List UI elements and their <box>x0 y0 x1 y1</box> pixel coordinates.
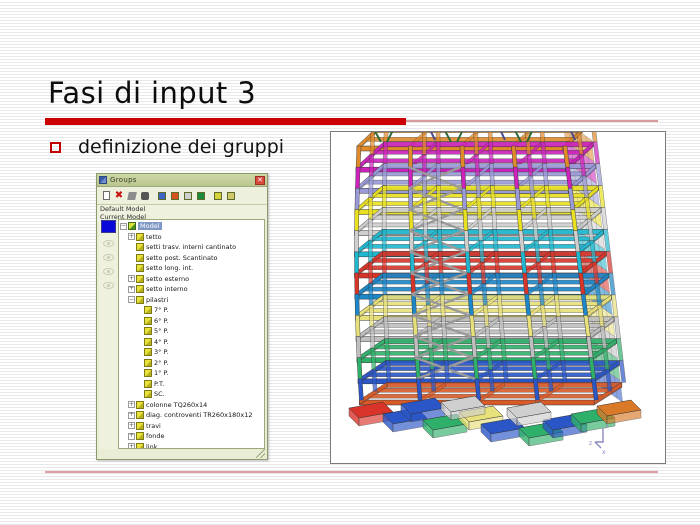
tree-item[interactable]: P.T. <box>120 379 264 390</box>
tree-item-label: link <box>146 443 158 449</box>
blue-cube-icon <box>158 192 166 200</box>
tree-item-label: 2° P. <box>154 359 168 367</box>
group-icon <box>136 254 144 262</box>
tree-spacer <box>136 359 143 366</box>
footer-rule <box>45 471 658 473</box>
rename-group-button[interactable] <box>126 189 138 202</box>
expand-icon[interactable]: + <box>128 286 135 293</box>
tree-item-label: colonne TQ260x14 <box>146 401 207 409</box>
tree-spacer <box>136 391 143 398</box>
red-cube-icon <box>171 192 179 200</box>
pale-cube-icon <box>227 192 235 200</box>
expand-icon[interactable]: + <box>128 233 135 240</box>
expand-icon[interactable]: + <box>128 412 135 419</box>
group-properties-button[interactable] <box>139 189 151 202</box>
dialog-title: Groups <box>110 176 255 184</box>
tree-item-label: Model <box>138 222 162 230</box>
tree-spacer <box>136 328 143 335</box>
tree-item[interactable]: +diag. controventi TR260x180x12 <box>120 410 264 421</box>
visibility-eye-icon[interactable] <box>103 240 114 247</box>
group-icon <box>136 422 144 430</box>
tree-item[interactable]: SC. <box>120 389 264 400</box>
structural-model-graphic: y x z <box>331 132 666 464</box>
tree-item[interactable]: setto post. Scantinato <box>120 253 264 264</box>
accent-rule-thin <box>406 120 658 122</box>
tree-item[interactable]: setto long. int. <box>120 263 264 274</box>
add-to-group-button[interactable] <box>156 189 168 202</box>
group-icon <box>136 411 144 419</box>
tree-item[interactable]: 1° P. <box>120 368 264 379</box>
tree-item-label: 1° P. <box>154 369 168 377</box>
tree-item-label: fonde <box>146 432 165 440</box>
svg-text:z: z <box>589 440 592 447</box>
tree-item[interactable]: 4° P. <box>120 337 264 348</box>
square-bullet-icon <box>50 142 61 153</box>
tree-spacer <box>136 380 143 387</box>
slide-canvas: Fasi di input 3 definizione dei gruppi G… <box>0 0 700 525</box>
dark-shape-icon <box>141 192 149 200</box>
tree-item-label: setto esterno <box>146 275 189 283</box>
tree-item[interactable]: 3° P. <box>120 347 264 358</box>
group-icon <box>144 359 152 367</box>
group-icon <box>136 275 144 283</box>
tree-item-label: travi <box>146 422 161 430</box>
gray-cube-icon <box>184 192 192 200</box>
tree-item-label: diag. controventi TR260x180x12 <box>146 411 253 419</box>
refresh-group-button[interactable] <box>182 189 194 202</box>
tree-item[interactable]: +fonde <box>120 431 264 442</box>
tree-item[interactable]: setti trasv. interni cantinato <box>120 242 264 253</box>
group-icon <box>144 306 152 314</box>
tree-spacer <box>136 307 143 314</box>
expand-icon[interactable]: + <box>128 275 135 282</box>
tree-item[interactable]: 7° P. <box>120 305 264 316</box>
close-icon[interactable]: ✕ <box>255 176 265 185</box>
tree-item-label: setto post. Scantinato <box>146 254 217 262</box>
groups-tree[interactable]: −Model+tettosetti trasv. interni cantina… <box>118 219 265 449</box>
tree-spacer <box>136 349 143 356</box>
dialog-toolbar[interactable]: ✖ <box>97 187 267 205</box>
svg-text:x: x <box>602 449 606 456</box>
tree-item-label: setti trasv. interni cantinato <box>146 243 236 251</box>
tree-item[interactable]: +travi <box>120 421 264 432</box>
group-icon <box>136 401 144 409</box>
tree-item-label: 6° P. <box>154 317 168 325</box>
yellow-cube-icon <box>214 192 222 200</box>
tree-spacer <box>136 338 143 345</box>
group-icon <box>136 285 144 293</box>
resize-grip[interactable] <box>256 449 265 458</box>
tree-item[interactable]: 5° P. <box>120 326 264 337</box>
gray-shape-icon <box>127 192 137 200</box>
tree-item-label: 5° P. <box>154 327 168 335</box>
tree-item-label: setto interno <box>146 285 188 293</box>
tree-spacer <box>128 244 135 251</box>
tree-item-label: SC. <box>154 390 165 398</box>
svg-text:y: y <box>605 422 609 429</box>
tree-spacer <box>128 265 135 272</box>
accent-rule-thick <box>45 118 406 125</box>
expand-icon[interactable]: + <box>128 422 135 429</box>
group-icon <box>128 222 136 230</box>
delete-group-button[interactable]: ✖ <box>113 189 125 202</box>
tree-item[interactable]: +setto interno <box>120 284 264 295</box>
expand-icon[interactable]: + <box>128 401 135 408</box>
groups-dialog[interactable]: Groups ✕ ✖ Default Model Current Model <box>96 173 268 460</box>
tree-item[interactable]: +colonne TQ260x14 <box>120 400 264 411</box>
tree-item-label: 7° P. <box>154 306 168 314</box>
collapse-icon[interactable]: − <box>128 296 135 303</box>
tree-spacer <box>128 254 135 261</box>
expand-icon[interactable]: + <box>128 443 135 449</box>
group-icon <box>136 443 144 449</box>
hide-group-button[interactable] <box>225 189 237 202</box>
dialog-body: −Model+tettosetti trasv. interni cantina… <box>99 219 265 449</box>
group-icon <box>144 380 152 388</box>
remove-from-group-button[interactable] <box>169 189 181 202</box>
group-icon <box>144 338 152 346</box>
dialog-titlebar[interactable]: Groups ✕ <box>97 174 267 187</box>
group-icon <box>144 327 152 335</box>
group-icon <box>136 432 144 440</box>
tree-item-label: 3° P. <box>154 348 168 356</box>
visibility-eye-icon[interactable] <box>103 268 114 275</box>
group-icon <box>144 348 152 356</box>
group-color-swatch[interactable] <box>101 220 116 233</box>
tree-item[interactable]: +tetto <box>120 232 264 243</box>
group-color-column[interactable] <box>99 219 118 449</box>
bullet-item: definizione dei gruppi <box>50 136 284 158</box>
visibility-eye-icon[interactable] <box>103 282 114 289</box>
show-group-button[interactable] <box>212 189 224 202</box>
group-icon <box>136 264 144 272</box>
model-viewport[interactable]: y x z <box>330 131 666 464</box>
tree-item[interactable]: −Model <box>120 221 264 232</box>
group-icon <box>144 390 152 398</box>
green-cube-icon <box>197 192 205 200</box>
tree-item[interactable]: +setto esterno <box>120 274 264 285</box>
page-title: Fasi di input 3 <box>48 76 256 110</box>
group-icon <box>136 243 144 251</box>
visibility-eye-icon[interactable] <box>103 254 114 261</box>
tree-item[interactable]: −pilastri <box>120 295 264 306</box>
group-icon <box>144 317 152 325</box>
tree-item[interactable]: +link <box>120 442 264 450</box>
tree-item-label: P.T. <box>154 380 164 388</box>
collapse-icon[interactable]: − <box>120 223 127 230</box>
application-icon <box>99 176 107 184</box>
tree-item[interactable]: 2° P. <box>120 358 264 369</box>
expand-icon[interactable]: + <box>128 433 135 440</box>
tree-item-label: 4° P. <box>154 338 168 346</box>
tree-item-label: tetto <box>146 233 162 241</box>
group-icon <box>136 233 144 241</box>
new-document-icon <box>103 191 110 200</box>
bullet-label: definizione dei gruppi <box>78 136 284 158</box>
new-group-button[interactable] <box>100 189 112 202</box>
tree-item-label: setto long. int. <box>146 264 193 272</box>
select-group-button[interactable] <box>195 189 207 202</box>
tree-spacer <box>136 370 143 377</box>
group-icon <box>144 369 152 377</box>
group-icon <box>136 296 144 304</box>
tree-spacer <box>136 317 143 324</box>
tree-item-label: pilastri <box>146 296 168 304</box>
tree-item[interactable]: 6° P. <box>120 316 264 327</box>
